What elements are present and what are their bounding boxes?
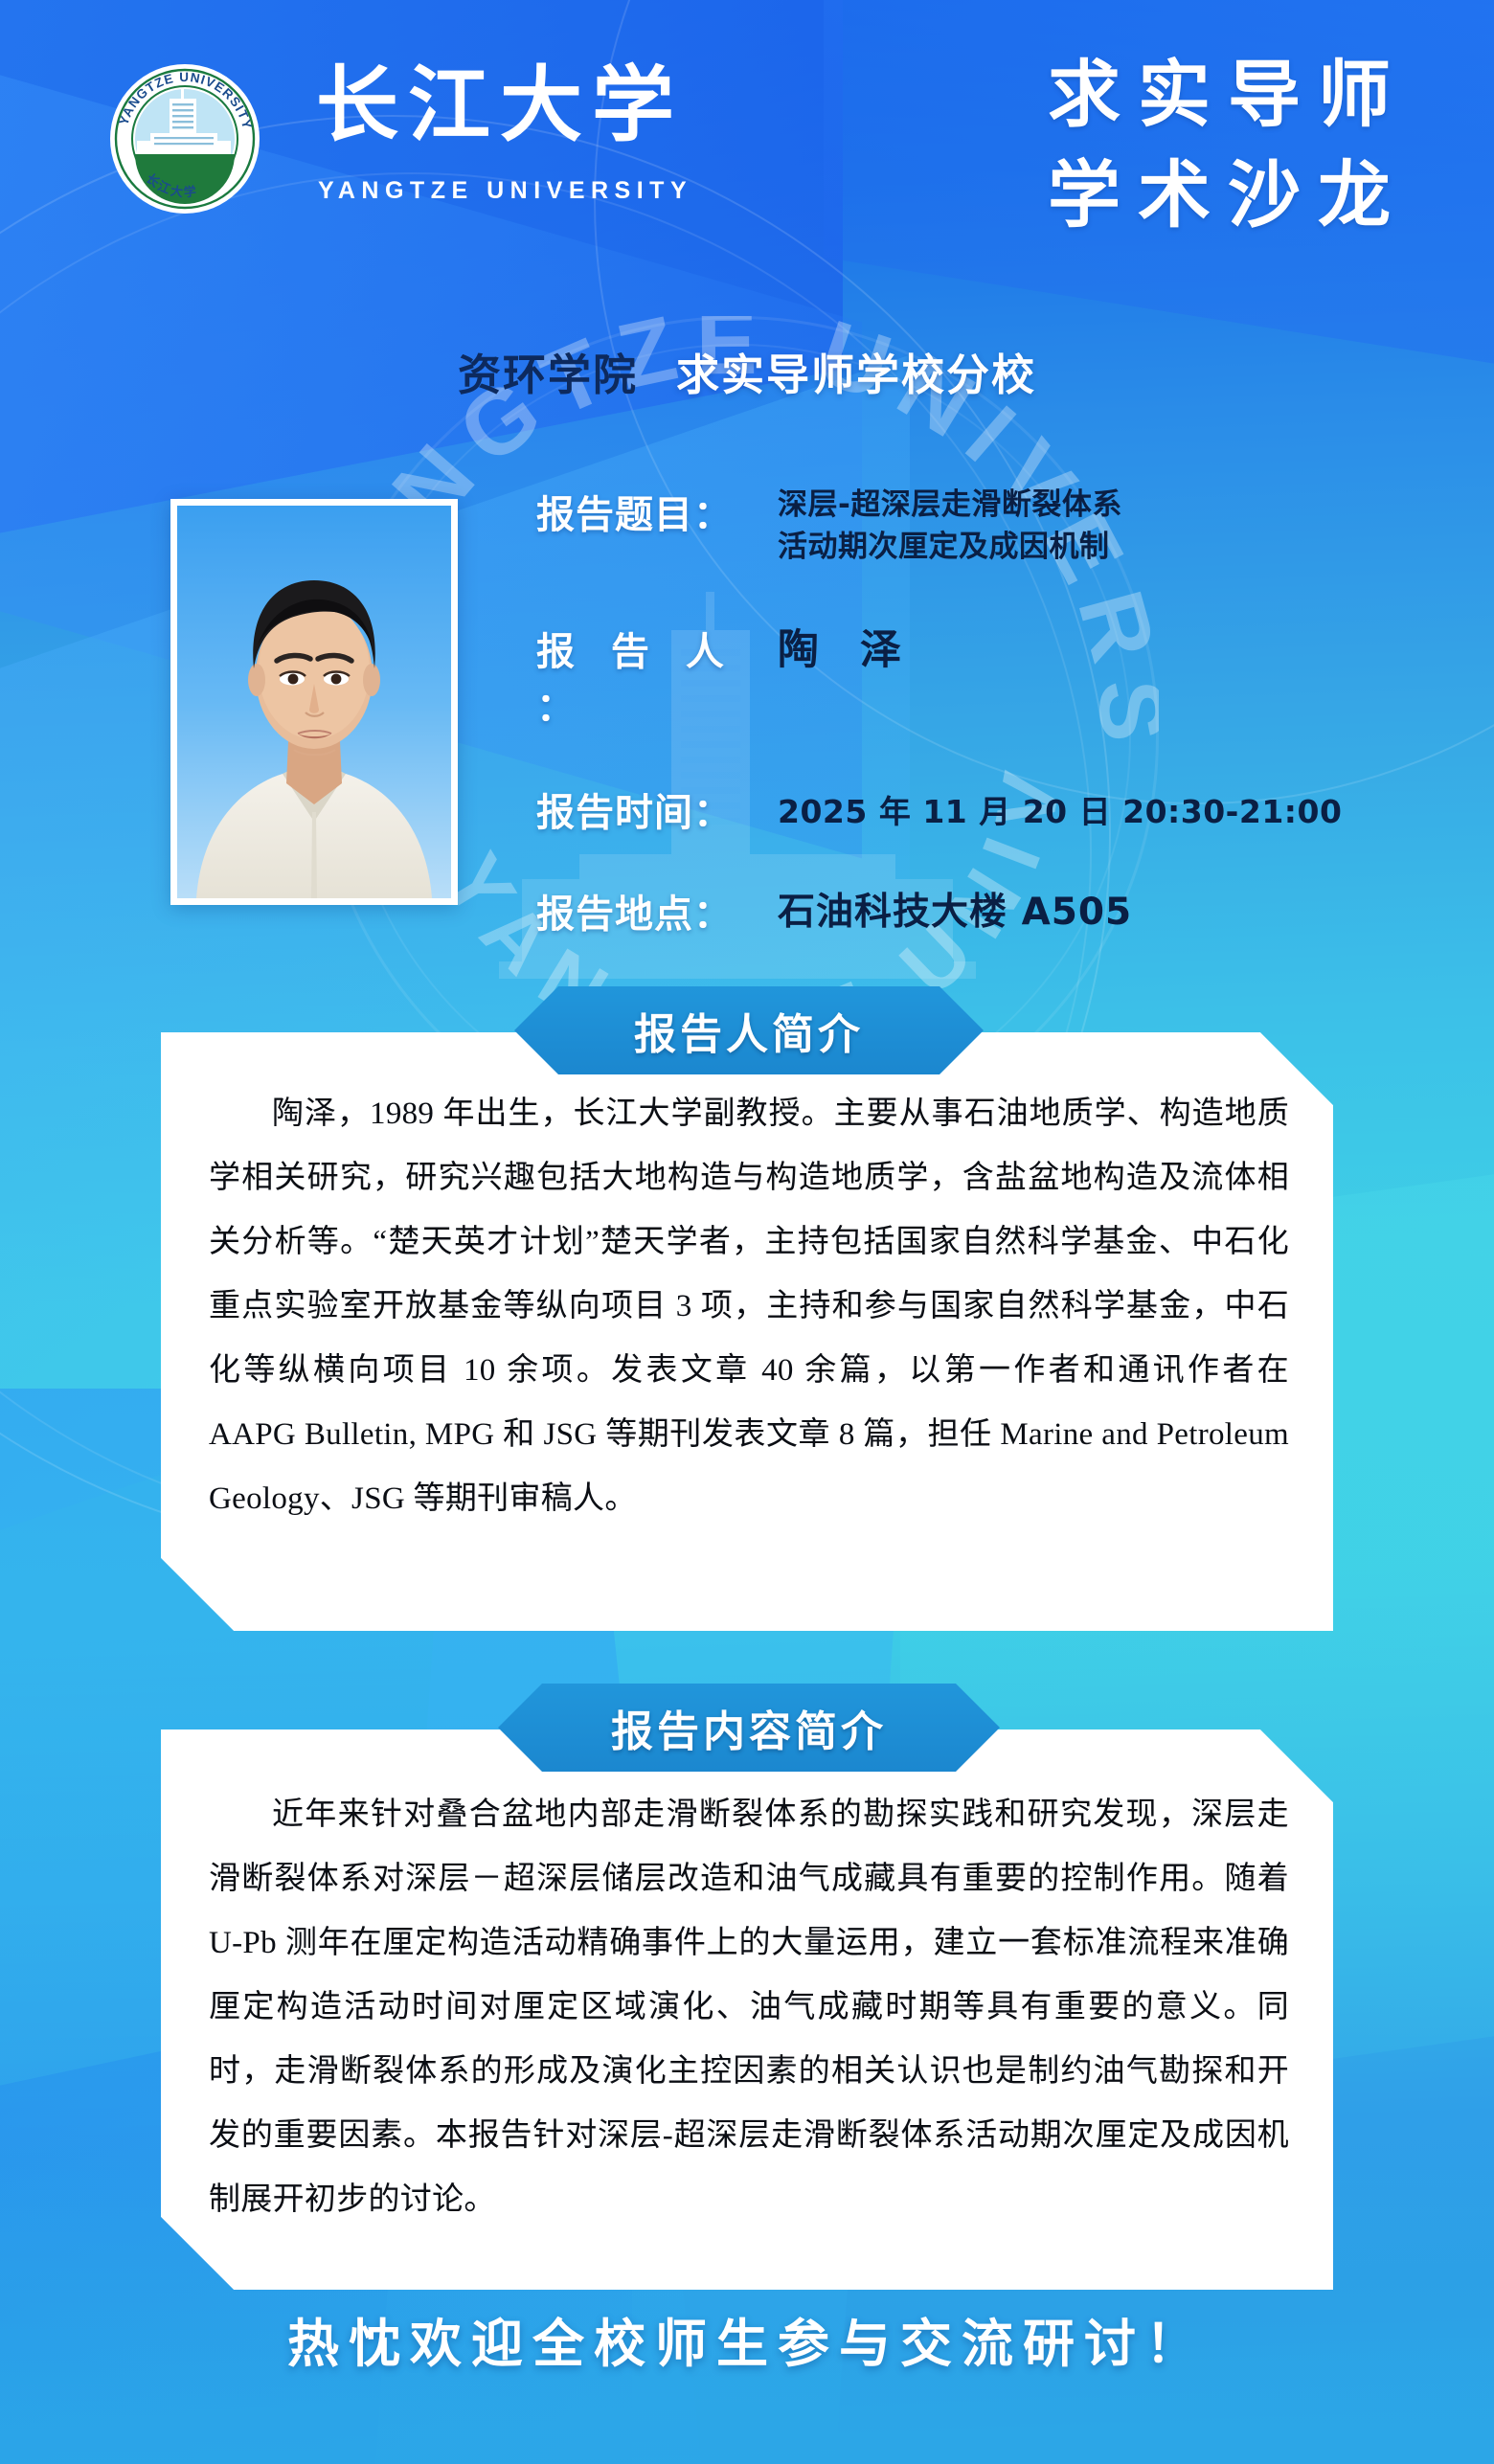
salon-title: 求实导师 学术沙龙: [795, 46, 1408, 247]
subtitle-line: 资环学院求实导师学校分校: [0, 340, 1494, 402]
university-name-en: YANGTZE UNIVERSITY: [318, 177, 692, 205]
info-label-speaker: 报 告 人 ：: [536, 621, 778, 732]
subtitle-college: 资环学院: [458, 350, 638, 400]
info-row-speaker: 报 告 人 ： 陶 泽: [536, 621, 1437, 732]
university-name-cn: 长江大学: [316, 59, 718, 151]
report-title-line-2: 活动期次厘定及成因机制: [778, 528, 1122, 568]
info-row-title: 报告题目： 深层-超深层走滑断裂体系 活动期次厘定及成因机制: [536, 484, 1437, 567]
speaker-bio-text: 陶泽，1989 年出生，长江大学副教授。主要从事石油地质学、构造地质学相关研究，…: [209, 1082, 1289, 1531]
section-banner-bio-label: 报告人简介: [634, 1000, 864, 1061]
info-label-place: 报告地点：: [536, 883, 778, 938]
poster-root: YANGTZE UNIVERSITY YANGTZE UNIVERSITY: [0, 0, 1494, 2464]
info-value-speaker: 陶 泽: [778, 617, 915, 676]
report-title-line-1: 深层-超深层走滑断裂体系: [778, 486, 1122, 526]
poster-header: YANGTZE UNIVERSITY 长江大学 长江大学 YANGTZE UNI…: [0, 0, 1494, 316]
section-banner-abstract: 报告内容简介: [498, 1684, 1000, 1772]
poster-footer: 热忱欢迎全校师生参与交流研讨！: [0, 2301, 1494, 2377]
info-label-time: 报告时间：: [536, 781, 778, 837]
info-value-time: 2025 年 11 月 20 日 20:30-21:00: [778, 786, 1342, 832]
speaker-portrait: [170, 499, 458, 905]
info-label-title: 报告题目：: [536, 484, 778, 539]
salon-title-line-1: 求实导师: [795, 46, 1408, 147]
info-row-place: 报告地点： 石油科技大楼 A505: [536, 883, 1437, 938]
info-value-place: 石油科技大楼 A505: [778, 882, 1132, 936]
report-abstract-text: 近年来针对叠合盆地内部走滑断裂体系的勘探实践和研究发现，深层走滑断裂体系对深层－…: [209, 1783, 1289, 2232]
section-banner-bio: 报告人简介: [514, 986, 984, 1074]
salon-title-line-2: 学术沙龙: [795, 147, 1408, 247]
subtitle-branch: 求实导师学校分校: [676, 350, 1036, 400]
speaker-portrait-image: [177, 506, 451, 898]
section-banner-abstract-label: 报告内容简介: [611, 1697, 887, 1758]
event-info-list: 报告题目： 深层-超深层走滑断裂体系 活动期次厘定及成因机制 报 告 人 ： 陶…: [536, 484, 1437, 938]
footer-welcome-text: 热忱欢迎全校师生参与交流研讨！: [287, 2316, 1207, 2373]
info-row-time: 报告时间： 2025 年 11 月 20 日 20:30-21:00: [536, 781, 1437, 837]
yangtze-university-seal-icon: YANGTZE UNIVERSITY 长江大学: [108, 62, 261, 215]
info-value-title: 深层-超深层走滑断裂体系 活动期次厘定及成因机制: [778, 484, 1122, 567]
